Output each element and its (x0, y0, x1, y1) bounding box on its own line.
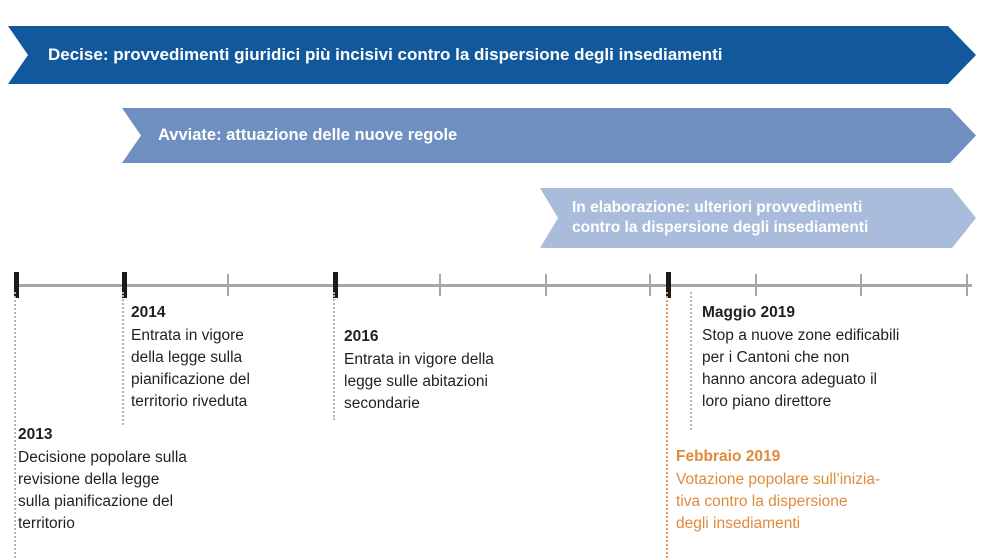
axis-tick-minor-6 (860, 274, 862, 296)
banner-decise-label: Decise: provvedimenti giuridici più inci… (48, 45, 723, 65)
guide-line-febbraio-2019 (666, 292, 668, 558)
banner-elaborazione-label: In elaborazione: ulteriori provvedimenti… (572, 198, 868, 238)
event-2014-text: Entrata in vigore della legge sulla pian… (131, 325, 321, 413)
guide-line-2013 (14, 292, 16, 558)
guide-line-2016 (333, 292, 335, 420)
event-2013-date: 2013 (18, 424, 268, 446)
axis-tick-minor-1 (227, 274, 229, 296)
timeline-axis-line (14, 284, 972, 287)
guide-line-2014 (122, 292, 124, 425)
event-febbraio-2019: Febbraio 2019 Votazione popolare sull’in… (676, 446, 956, 535)
banner-decise: Decise: provvedimenti giuridici più inci… (8, 26, 976, 84)
banner-elaborazione: In elaborazione: ulteriori provvedimenti… (540, 188, 976, 248)
axis-tick-minor-3 (545, 274, 547, 296)
event-febbraio-2019-date: Febbraio 2019 (676, 446, 956, 468)
event-maggio-2019-text: Stop a nuove zone edificabili per i Cant… (702, 325, 985, 413)
event-2013-text: Decisione popolare sulla revisione della… (18, 447, 268, 535)
event-2016: 2016 Entrata in vigore della legge sulle… (344, 326, 569, 415)
event-2014: 2014 Entrata in vigore della legge sulla… (131, 302, 321, 413)
event-maggio-2019: Maggio 2019 Stop a nuove zone edificabil… (702, 302, 985, 413)
event-febbraio-2019-text: Votazione popolare sull’inizia- tiva con… (676, 469, 956, 535)
axis-tick-minor-2 (439, 274, 441, 296)
event-2014-date: 2014 (131, 302, 321, 324)
event-2016-text: Entrata in vigore della legge sulle abit… (344, 349, 569, 415)
guide-line-maggio-2019 (690, 292, 692, 430)
axis-tick-minor-5 (755, 274, 757, 296)
banner-avviate: Avviate: attuazione delle nuove regole (122, 108, 976, 163)
timeline-infographic: Decise: provvedimenti giuridici più inci… (0, 0, 985, 558)
event-maggio-2019-date: Maggio 2019 (702, 302, 985, 324)
event-2016-date: 2016 (344, 326, 569, 348)
event-2013: 2013 Decisione popolare sulla revisione … (18, 424, 268, 535)
axis-tick-minor-7 (966, 274, 968, 296)
axis-tick-minor-4 (649, 274, 651, 296)
banner-avviate-label: Avviate: attuazione delle nuove regole (158, 126, 457, 145)
